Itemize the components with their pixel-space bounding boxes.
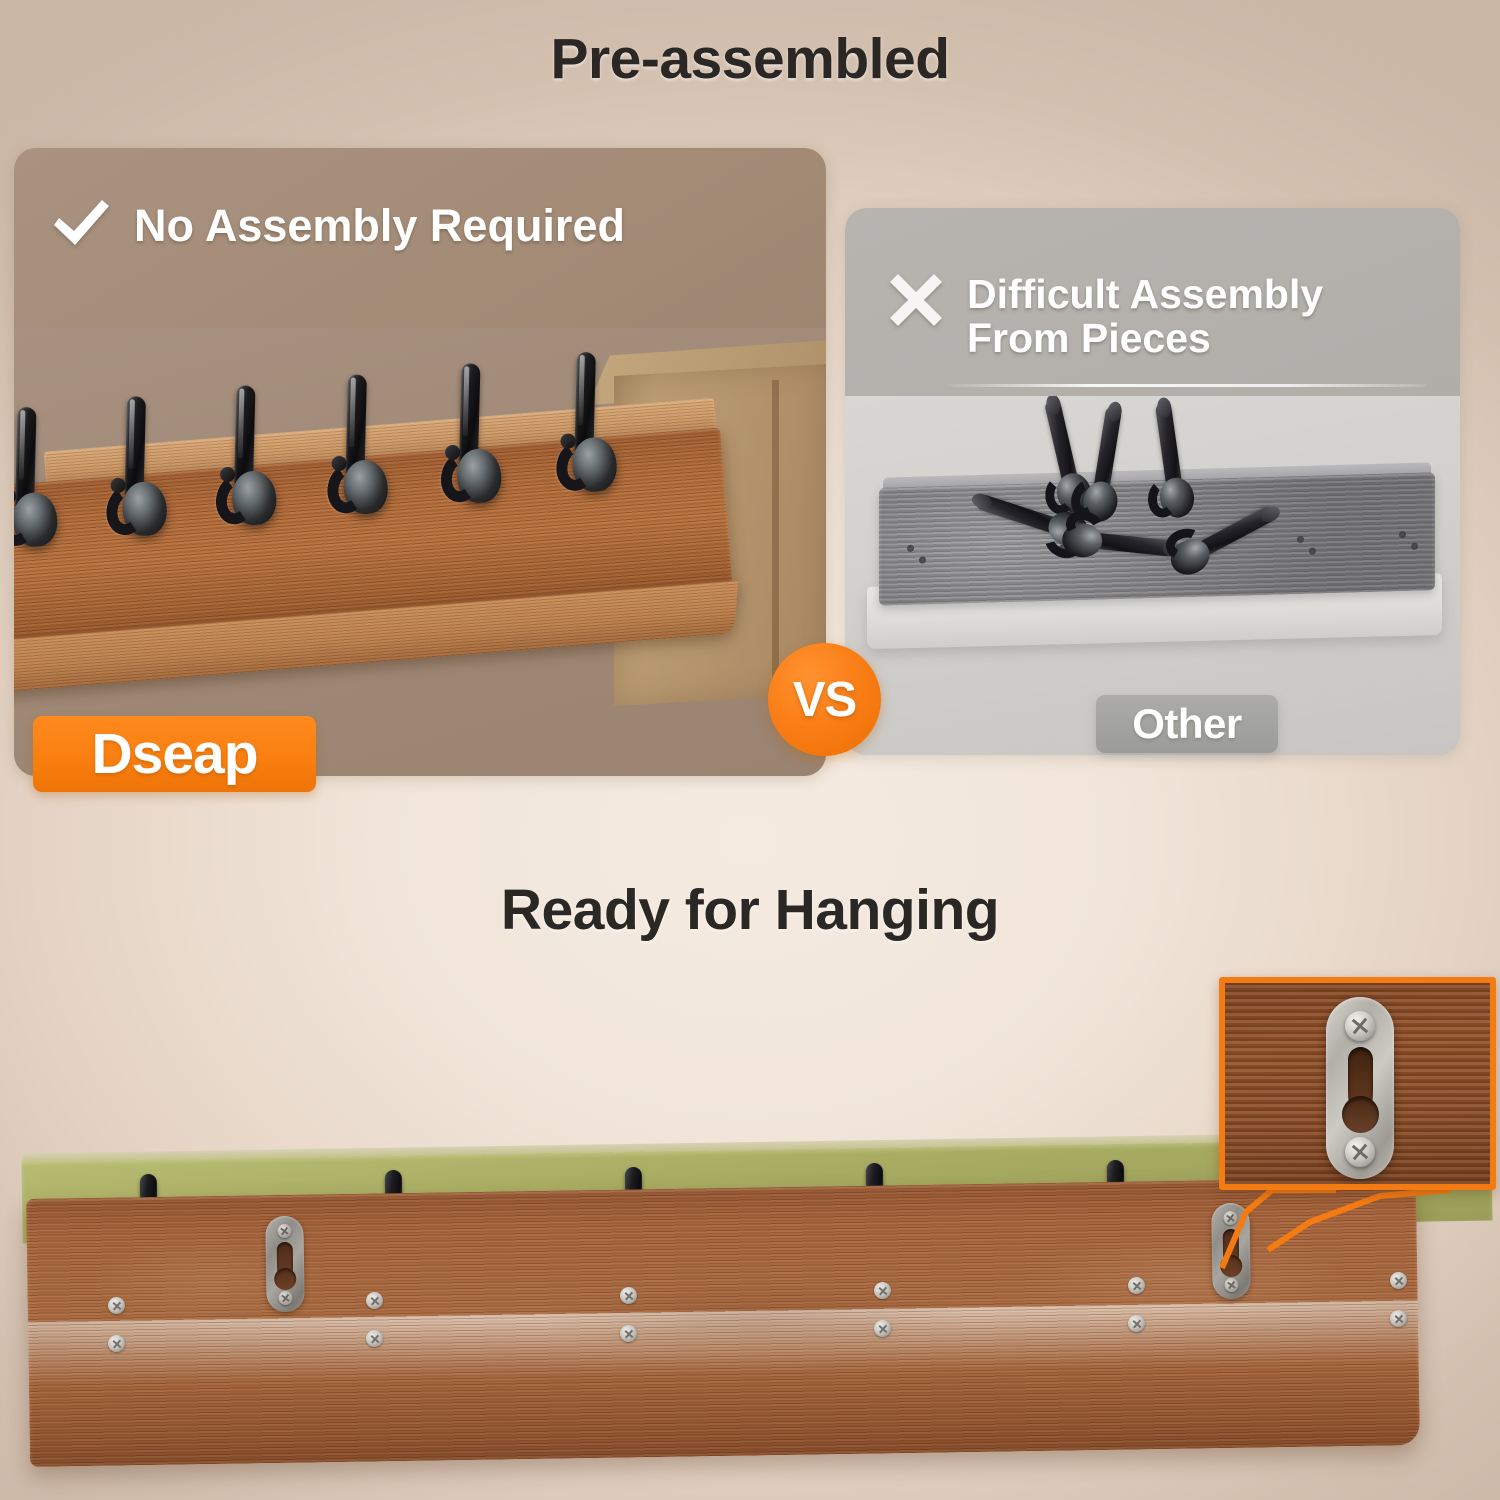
zoom-callout-keyhole (1219, 977, 1496, 1190)
panel-dseap: No Assembly Required (14, 148, 826, 776)
keyhole-hanger (265, 1216, 305, 1313)
coat-rack-assembled (14, 342, 760, 742)
dseap-claim-text: No Assembly Required (134, 198, 625, 251)
panel-other: Difficult Assembly From Pieces (845, 208, 1460, 755)
keyhole-hanger-icon (1326, 997, 1394, 1179)
other-claim-row: Difficult Assembly From Pieces (887, 270, 1323, 361)
rack-hook (323, 372, 397, 526)
page-title-pre-assembled: Pre-assembled (0, 26, 1500, 92)
rack-hook (14, 405, 66, 559)
vs-badge: VS (768, 643, 881, 756)
rack-hook (102, 394, 176, 548)
page-title-ready-for-hanging: Ready for Hanging (0, 877, 1500, 943)
brand-badge-other-label: Other (1132, 700, 1242, 748)
other-claim-text: Difficult Assembly From Pieces (967, 270, 1323, 361)
dseap-claim-row: No Assembly Required (50, 198, 625, 251)
loose-hook (1139, 399, 1205, 525)
rack-hook (436, 361, 510, 515)
brand-badge-dseap: Dseap (33, 716, 316, 792)
rack-hook (211, 383, 285, 537)
brand-badge-other: Other (1096, 695, 1278, 753)
cross-icon (887, 270, 945, 328)
photo-assembled-rack (14, 328, 826, 776)
other-divider (947, 384, 1427, 387)
vs-badge-label: VS (793, 672, 856, 728)
brand-badge-dseap-label: Dseap (91, 721, 257, 787)
rack-hook (552, 350, 626, 504)
infographic-page: Pre-assembled No Assembly Required (0, 0, 1500, 1500)
check-icon (50, 198, 112, 250)
carton-edge (772, 380, 779, 698)
